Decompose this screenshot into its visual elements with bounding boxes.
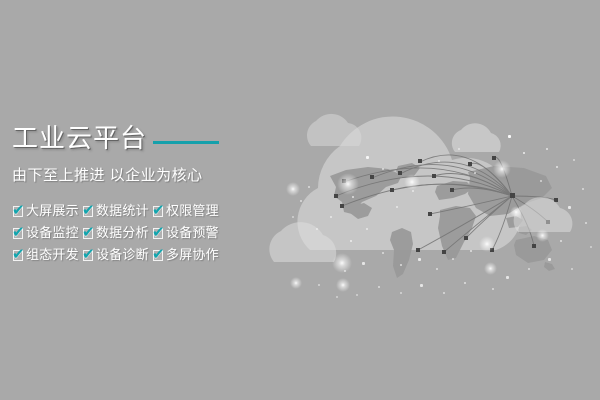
sparkle-dot bbox=[571, 268, 573, 270]
sparkle-dot bbox=[573, 159, 575, 161]
sparkle-dot bbox=[546, 148, 548, 150]
feature-item[interactable]: ✔ 多屏协作 bbox=[152, 244, 227, 266]
sparkle-glow bbox=[404, 174, 420, 190]
sparkle-dot bbox=[336, 296, 338, 298]
sparkle-dot bbox=[556, 166, 558, 168]
sparkle-dot bbox=[366, 156, 369, 159]
sparkle-dot bbox=[560, 240, 562, 242]
feature-item[interactable]: ✔ 权限管理 bbox=[152, 200, 227, 222]
sparkle-dot bbox=[356, 294, 358, 296]
feature-label: 多屏协作 bbox=[166, 247, 219, 263]
sparkle-dot bbox=[528, 268, 530, 270]
sparkle-dot bbox=[590, 246, 592, 248]
feature-list: ✔ 大屏展示 ✔ 数据统计 ✔ 权限管理 ✔ 设备监控 ✔ 数据分析 ✔ 设备预… bbox=[12, 200, 262, 266]
sparkle-dot bbox=[458, 148, 460, 150]
sparkle-dot bbox=[308, 186, 310, 188]
sparkle-dot bbox=[418, 258, 421, 261]
banner-text-block: 工业云平台 由下至上推进 以企业为核心 ✔ 大屏展示 ✔ 数据统计 ✔ 权限管理… bbox=[12, 122, 262, 266]
feature-item[interactable]: ✔ 数据分析 bbox=[82, 222, 152, 244]
sparkle-dot bbox=[436, 268, 438, 270]
check-icon: ✔ bbox=[12, 227, 25, 240]
page-subtitle: 由下至上推进 以企业为核心 bbox=[12, 166, 262, 186]
sparkle-dot bbox=[362, 262, 365, 265]
check-icon: ✔ bbox=[152, 227, 165, 240]
sparkle-dot bbox=[438, 160, 440, 162]
check-icon: ✔ bbox=[12, 249, 25, 262]
sparkle-dot bbox=[330, 216, 332, 218]
sparkle-dot bbox=[382, 168, 384, 170]
check-icon: ✔ bbox=[82, 249, 95, 262]
sparkle-glow bbox=[286, 182, 300, 196]
sparkle-glow bbox=[484, 262, 497, 275]
sparkle-dot bbox=[474, 172, 476, 174]
sparkle-dot bbox=[548, 258, 551, 261]
feature-item[interactable]: ✔ 组态开发 bbox=[12, 244, 82, 266]
sparkle-glow bbox=[336, 278, 350, 292]
sparkle-dot bbox=[508, 135, 511, 138]
sparkle-dot bbox=[492, 288, 494, 290]
feature-item[interactable]: ✔ 设备诊断 bbox=[82, 244, 152, 266]
sparkle-dot bbox=[464, 282, 466, 284]
sparkle-dot bbox=[585, 222, 587, 224]
sparkle-dot bbox=[420, 284, 423, 287]
sparkle-dot bbox=[292, 216, 294, 218]
feature-label: 数据统计 bbox=[96, 203, 149, 219]
feature-label: 组态开发 bbox=[26, 247, 79, 263]
sparkle-dot bbox=[582, 188, 584, 190]
check-icon: ✔ bbox=[152, 249, 165, 262]
check-icon: ✔ bbox=[12, 205, 25, 218]
sparkle-dot bbox=[318, 284, 320, 286]
sparkle-dot bbox=[470, 250, 472, 252]
sparkle-dot bbox=[382, 252, 384, 254]
feature-label: 大屏展示 bbox=[26, 203, 79, 219]
sparkle-glow bbox=[536, 229, 549, 242]
sparkle-dot bbox=[452, 258, 454, 260]
check-icon: ✔ bbox=[152, 205, 165, 218]
sparkle-dot bbox=[400, 264, 402, 266]
sparkle-glow bbox=[337, 173, 359, 195]
sparkle-dot bbox=[378, 286, 380, 288]
sparkle-dot bbox=[352, 196, 354, 198]
sparkle-glow bbox=[332, 253, 352, 273]
feature-item[interactable]: ✔ 数据统计 bbox=[82, 200, 152, 222]
check-icon: ✔ bbox=[82, 205, 95, 218]
page-title: 工业云平台 bbox=[12, 123, 147, 153]
sparkle-dot bbox=[523, 152, 525, 154]
feature-item[interactable]: ✔ 设备监控 bbox=[12, 222, 82, 244]
feature-label: 权限管理 bbox=[166, 203, 219, 219]
cloud-platform-banner: 工业云平台 由下至上推进 以企业为核心 ✔ 大屏展示 ✔ 数据统计 ✔ 权限管理… bbox=[0, 0, 600, 400]
sparkle-dot bbox=[443, 292, 445, 294]
feature-item[interactable]: ✔ 大屏展示 bbox=[12, 200, 82, 222]
feature-item[interactable]: ✔ 设备预警 bbox=[152, 222, 227, 244]
sparkle-glow bbox=[493, 160, 511, 178]
sparkle-glow bbox=[290, 277, 302, 289]
sparkle-dot bbox=[396, 206, 398, 208]
sparkle-dot bbox=[400, 292, 402, 294]
sparkle-dot bbox=[412, 190, 414, 192]
sparkle-dot bbox=[506, 276, 509, 279]
sparkle-dot bbox=[316, 228, 318, 230]
sparkle-dot bbox=[350, 240, 352, 242]
feature-label: 设备预警 bbox=[166, 225, 219, 241]
sparkle-glow bbox=[510, 206, 522, 218]
feature-label: 设备监控 bbox=[26, 225, 79, 241]
check-icon: ✔ bbox=[82, 227, 95, 240]
sparkle-dot bbox=[366, 228, 368, 230]
sparkle-dot bbox=[568, 206, 571, 209]
feature-label: 设备诊断 bbox=[96, 247, 149, 263]
feature-label: 数据分析 bbox=[96, 225, 149, 241]
sparkle-dot bbox=[540, 180, 542, 182]
sparkle-dot bbox=[300, 200, 302, 202]
sparkle-dot bbox=[344, 270, 346, 272]
sparkle-glow bbox=[479, 236, 495, 252]
title-row: 工业云平台 bbox=[12, 122, 262, 154]
title-accent-rule bbox=[153, 141, 219, 144]
